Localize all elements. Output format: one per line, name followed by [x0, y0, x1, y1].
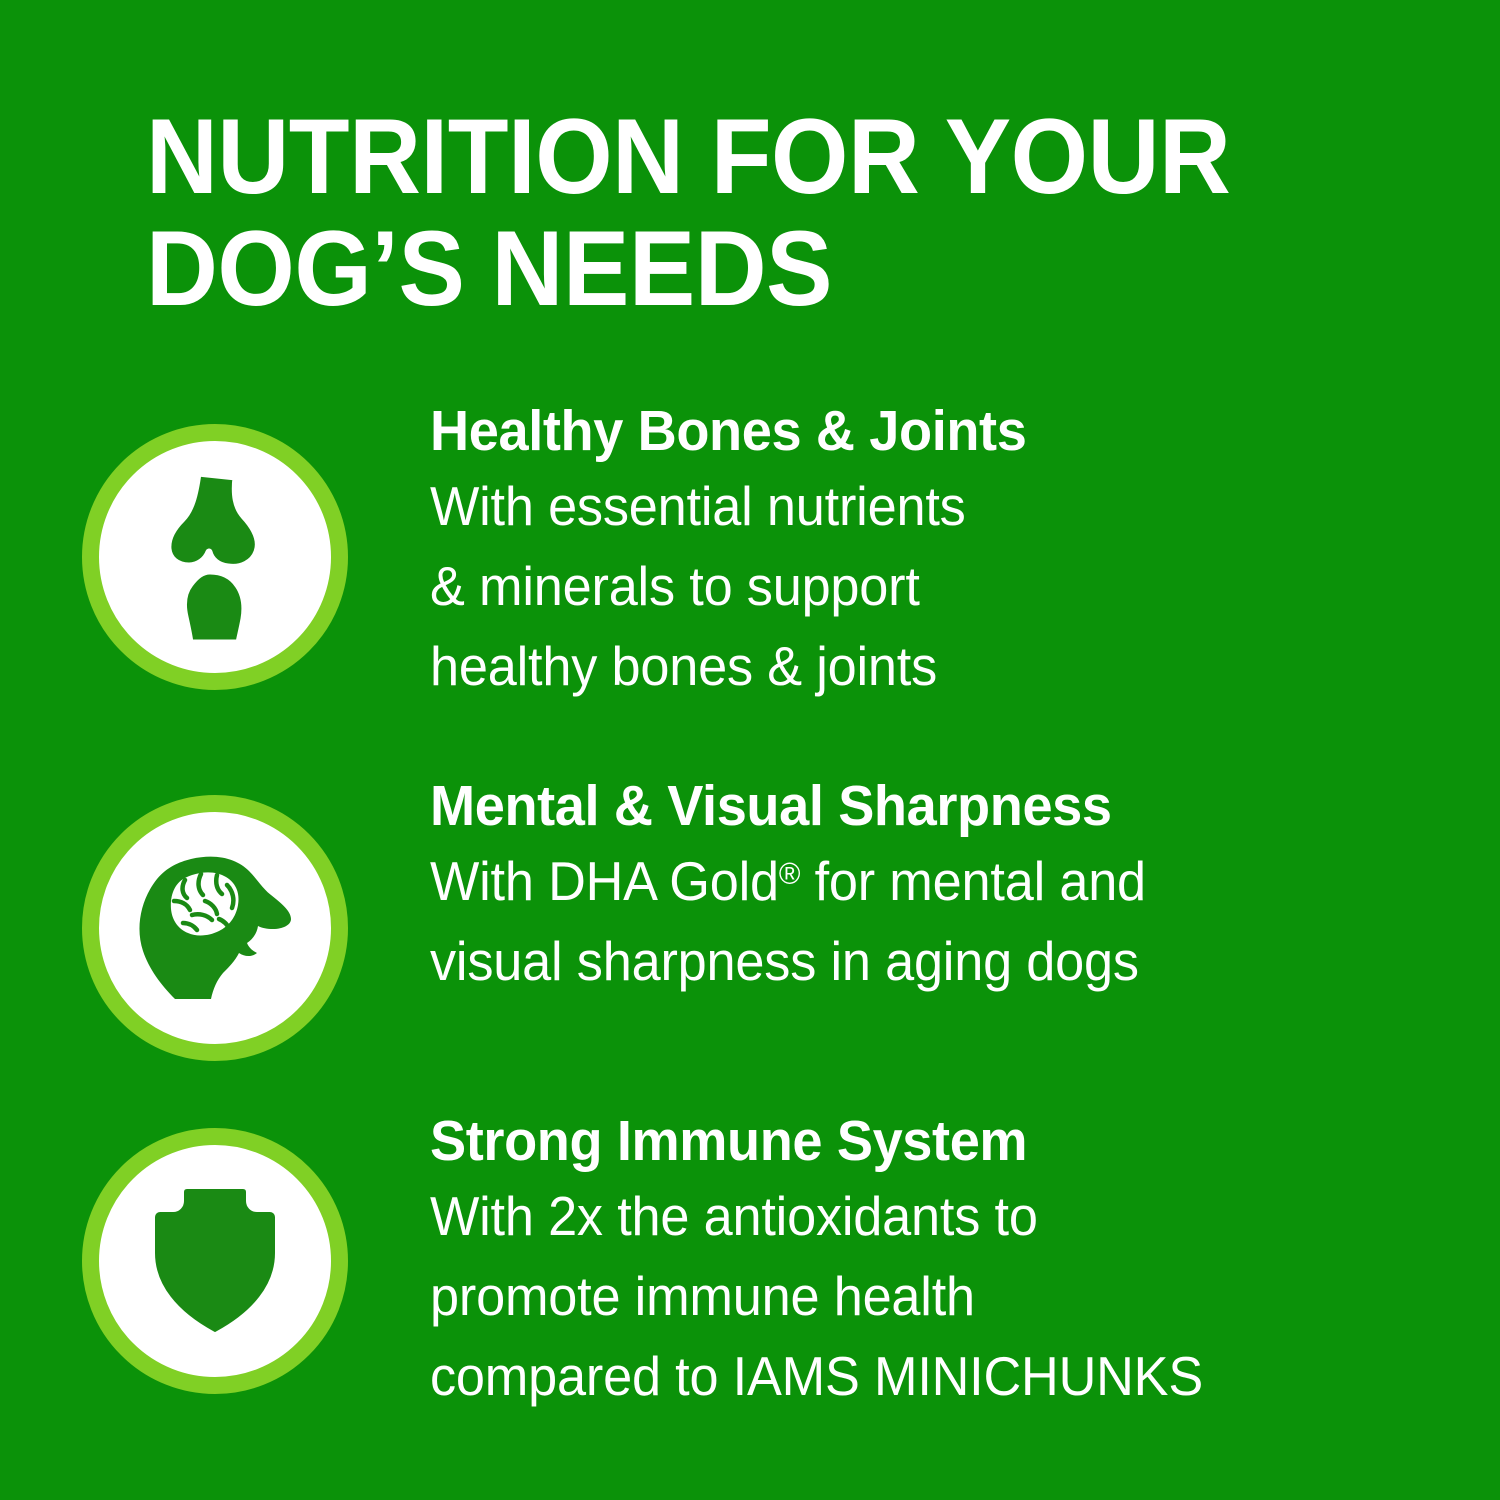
icon-badge — [82, 424, 348, 690]
feature-row-immune-system: Strong Immune System With 2x the antioxi… — [0, 1110, 1500, 1416]
feature-title: Mental & Visual Sharpness — [430, 775, 1409, 837]
feature-body: With essential nutrients & minerals to s… — [430, 466, 1409, 706]
feature-body: With DHA Gold® for mental and visual sha… — [430, 841, 1409, 1001]
page-title: NUTRITION FOR YOUR DOG’S NEEDS — [146, 100, 1318, 324]
nutrition-poster: NUTRITION FOR YOUR DOG’S NEEDS Healthy B… — [0, 0, 1500, 1500]
icon-column — [0, 775, 430, 1061]
feature-title: Healthy Bones & Joints — [430, 400, 1409, 462]
dog-head-brain-icon — [131, 853, 299, 1003]
icon-column — [0, 400, 430, 690]
icon-badge — [82, 795, 348, 1061]
icon-badge — [82, 1128, 348, 1394]
feature-title: Strong Immune System — [430, 1110, 1409, 1172]
feature-body: With 2x the antioxidants to promote immu… — [430, 1176, 1409, 1416]
bone-joint-icon — [140, 467, 290, 647]
feature-row-mental-visual: Mental & Visual Sharpness With DHA Gold®… — [0, 775, 1500, 1061]
icon-column — [0, 1110, 430, 1394]
feature-row-bones-joints: Healthy Bones & Joints With essential nu… — [0, 400, 1500, 706]
feature-body-prefix: With DHA Gold — [430, 850, 779, 912]
registered-mark: ® — [779, 856, 800, 891]
text-column: Strong Immune System With 2x the antioxi… — [430, 1110, 1500, 1416]
text-column: Mental & Visual Sharpness With DHA Gold®… — [430, 775, 1500, 1001]
text-column: Healthy Bones & Joints With essential nu… — [430, 400, 1500, 706]
shield-icon — [137, 1179, 293, 1343]
